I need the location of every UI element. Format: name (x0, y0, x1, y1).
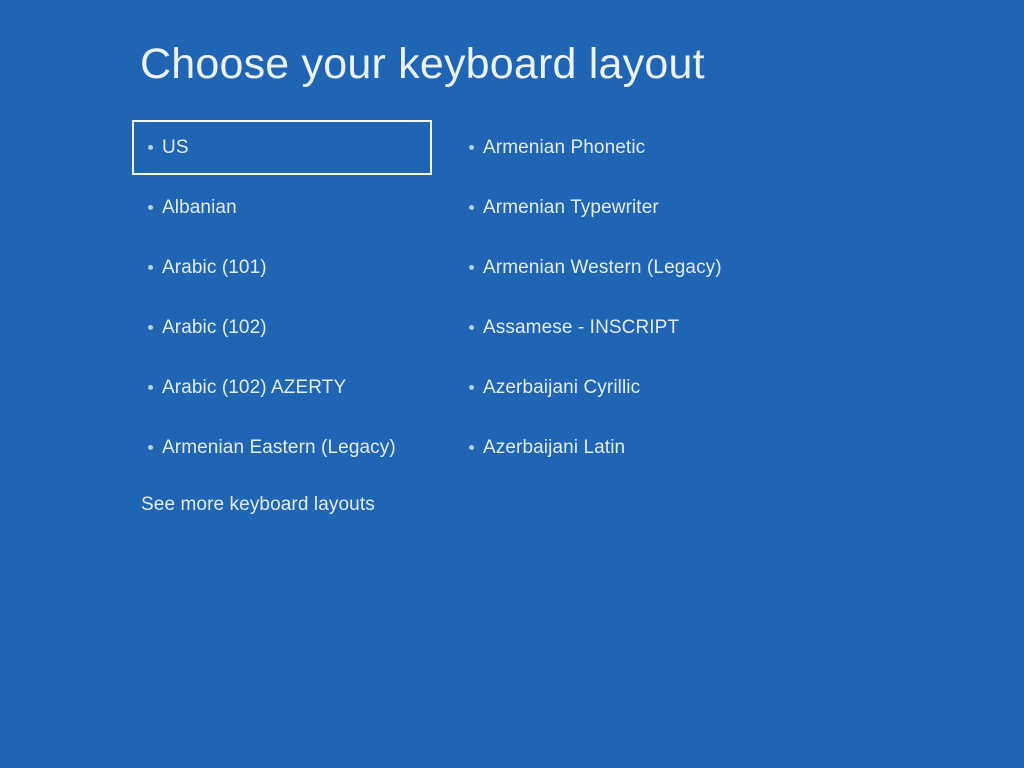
page-title: Choose your keyboard layout (140, 38, 705, 90)
keyboard-layout-item-right-5[interactable]: Azerbaijani Latin (460, 420, 880, 475)
keyboard-layout-label: US (162, 136, 189, 160)
keyboard-layout-label: Armenian Typewriter (483, 196, 659, 220)
keyboard-layout-item-left-1[interactable]: Albanian (132, 180, 432, 235)
keyboard-layout-item-left-0[interactable]: US (132, 120, 432, 175)
bullet-dot-icon (148, 325, 153, 330)
see-more-keyboard-layouts-link[interactable]: See more keyboard layouts (141, 492, 375, 518)
keyboard-layout-label: Armenian Phonetic (483, 136, 645, 160)
keyboard-layout-item-left-4[interactable]: Arabic (102) AZERTY (132, 360, 432, 415)
keyboard-layout-label: Azerbaijani Cyrillic (483, 376, 640, 400)
keyboard-layout-label: Arabic (101) (162, 256, 267, 280)
keyboard-layout-label: Azerbaijani Latin (483, 436, 625, 460)
keyboard-layout-item-right-3[interactable]: Assamese - INSCRIPT (460, 300, 880, 355)
keyboard-layout-label: Albanian (162, 196, 237, 220)
keyboard-layout-label: Arabic (102) AZERTY (162, 376, 346, 400)
keyboard-layout-item-right-4[interactable]: Azerbaijani Cyrillic (460, 360, 880, 415)
bullet-dot-icon (469, 385, 474, 390)
bullet-dot-icon (469, 205, 474, 210)
bullet-dot-icon (469, 265, 474, 270)
keyboard-layout-label: Armenian Western (Legacy) (483, 256, 722, 280)
bullet-dot-icon (148, 145, 153, 150)
keyboard-layout-label: Armenian Eastern (Legacy) (162, 436, 396, 460)
bullet-dot-icon (148, 265, 153, 270)
keyboard-layout-list-right: Armenian PhoneticArmenian TypewriterArme… (460, 120, 880, 480)
bullet-dot-icon (148, 385, 153, 390)
keyboard-layout-list-left: USAlbanianArabic (101)Arabic (102)Arabic… (132, 120, 432, 480)
bullet-dot-icon (469, 325, 474, 330)
bullet-dot-icon (148, 445, 153, 450)
keyboard-layout-item-right-0[interactable]: Armenian Phonetic (460, 120, 880, 175)
bullet-dot-icon (469, 145, 474, 150)
bullet-dot-icon (469, 445, 474, 450)
keyboard-layout-screen: Choose your keyboard layout USAlbanianAr… (0, 0, 1024, 768)
bullet-dot-icon (148, 205, 153, 210)
keyboard-layout-item-left-3[interactable]: Arabic (102) (132, 300, 432, 355)
keyboard-layout-item-right-1[interactable]: Armenian Typewriter (460, 180, 880, 235)
keyboard-layout-item-left-5[interactable]: Armenian Eastern (Legacy) (132, 420, 432, 475)
keyboard-layout-label: Assamese - INSCRIPT (483, 316, 679, 340)
keyboard-layout-label: Arabic (102) (162, 316, 267, 340)
keyboard-layout-item-right-2[interactable]: Armenian Western (Legacy) (460, 240, 880, 295)
keyboard-layout-item-left-2[interactable]: Arabic (101) (132, 240, 432, 295)
